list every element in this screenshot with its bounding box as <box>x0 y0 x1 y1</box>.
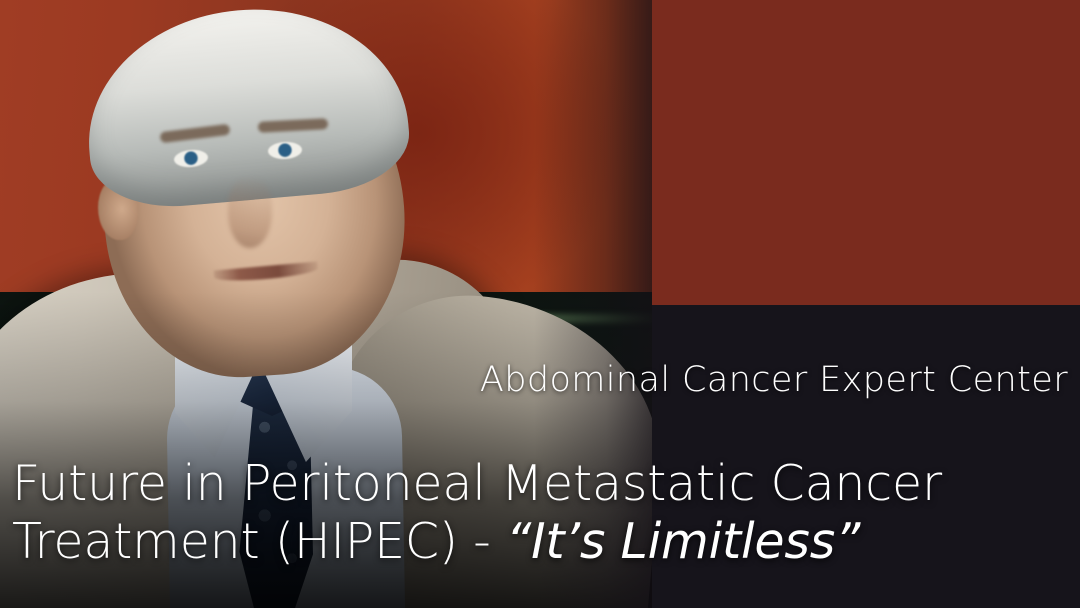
red-color-panel <box>652 0 1080 305</box>
title-block: Future in Peritoneal Metastatic Cancer T… <box>12 455 1068 571</box>
title-line-2-prefix: Treatment (HIPEC) - <box>12 513 506 570</box>
subtitle-organization: Abdominal Cancer Expert Center <box>268 362 1068 399</box>
title-line-1: Future in Peritoneal Metastatic Cancer <box>12 455 1068 513</box>
title-line-2: Treatment (HIPEC) - “It’s Limitless” <box>12 513 1068 571</box>
video-thumbnail: Abdominal Cancer Expert Center Future in… <box>0 0 1080 608</box>
title-line-2-quote: “It’s Limitless” <box>506 513 860 570</box>
